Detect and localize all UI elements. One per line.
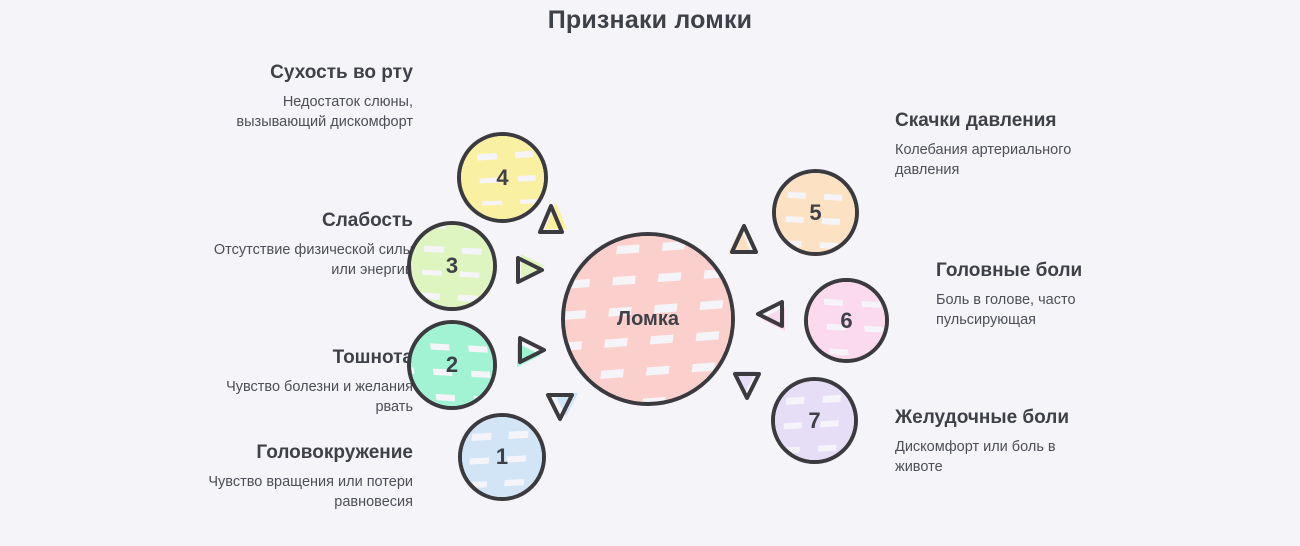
node-circle-4[interactable]: 4: [457, 132, 548, 223]
node-circle-2[interactable]: 2: [407, 320, 497, 410]
label-description: Боль в голове, часто пульсирующая: [936, 291, 1136, 330]
node-number: 3: [446, 253, 458, 279]
label-heading: Желудочные боли: [895, 405, 1105, 431]
center-node-withdrawal[interactable]: Ломка: [561, 232, 735, 406]
arrow-marker-2: [510, 330, 556, 376]
label-description: Чувство вращения или потери равновесия: [193, 473, 413, 512]
label-heading: Головокружение: [193, 440, 413, 466]
label-block-nausea: Тошнота Чувство болезни и желания рвать: [203, 345, 413, 417]
label-heading: Головные боли: [936, 258, 1136, 284]
label-block-headache: Головные боли Боль в голове, часто пульс…: [936, 258, 1136, 330]
label-block-blood-pressure: Скачки давления Колебания артериального …: [895, 108, 1095, 180]
label-description: Дискомфорт или боль в животе: [895, 438, 1105, 477]
node-circle-3[interactable]: 3: [407, 221, 497, 311]
node-number: 4: [496, 165, 508, 191]
label-block-weakness: Слабость Отсутствие физической силы или …: [213, 208, 413, 280]
label-description: Недостаток слюны, вызывающий дискомфорт: [213, 93, 413, 132]
arrow-marker-6: [748, 294, 794, 340]
label-description: Колебания артериального давления: [895, 141, 1095, 180]
label-heading: Скачки давления: [895, 108, 1095, 134]
label-heading: Сухость во рту: [213, 60, 413, 86]
node-number: 2: [446, 352, 458, 378]
arrow-marker-5: [726, 216, 772, 262]
node-number: 6: [840, 308, 852, 334]
node-circle-6[interactable]: 6: [804, 278, 889, 363]
node-circle-5[interactable]: 5: [772, 169, 859, 256]
node-number: 1: [496, 444, 508, 470]
node-circle-7[interactable]: 7: [771, 377, 858, 464]
infographic-canvas: Признаки ломки Сухость во рту Недостаток…: [0, 0, 1300, 546]
center-node-label: Ломка: [617, 308, 679, 331]
node-circle-1[interactable]: 1: [458, 413, 546, 501]
page-title: Признаки ломки: [0, 6, 1300, 35]
label-description: Чувство болезни и желания рвать: [203, 378, 413, 417]
arrow-marker-7: [727, 364, 773, 410]
node-number: 7: [808, 408, 820, 434]
label-block-stomach-pain: Желудочные боли Дискомфорт или боль в жи…: [895, 405, 1105, 477]
label-description: Отсутствие физической силы или энергии: [213, 241, 413, 280]
label-block-dry-mouth: Сухость во рту Недостаток слюны, вызываю…: [213, 60, 413, 132]
node-number: 5: [809, 200, 821, 226]
arrow-marker-3: [508, 250, 554, 296]
label-heading: Тошнота: [203, 345, 413, 371]
label-heading: Слабость: [213, 208, 413, 234]
label-block-dizziness: Головокружение Чувство вращения или поте…: [193, 440, 413, 512]
